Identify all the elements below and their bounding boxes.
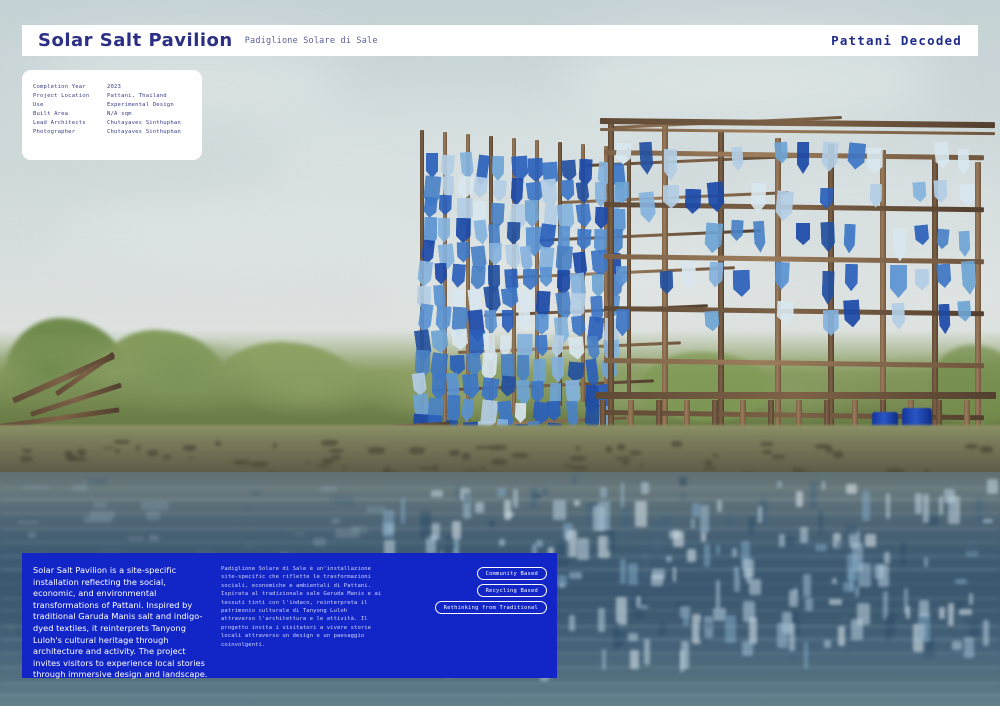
textile-flag [733,269,751,296]
timber-beam [604,306,984,316]
tag-badge[interactable]: Community Based [477,567,547,580]
description-english: Solar Salt Pavilion is a site-specific i… [33,565,211,668]
water-reflection-streak [885,616,892,641]
debris-speck [703,467,717,471]
textile-flag [517,355,530,384]
water-reflection-streak [598,501,610,530]
debris-speck [965,444,978,449]
debris-speck [115,449,121,452]
textile-flag [576,203,593,228]
textile-flag [506,222,520,245]
textile-flag [562,159,578,182]
debris-speck [22,449,31,454]
metadata-row: UseExperimental Design [33,101,192,110]
water-reflection-streak [838,626,845,646]
debris-speck [980,446,994,453]
water-ripple-band [0,486,1000,489]
water-reflection-streak [244,543,256,547]
water-reflection-streak [952,641,963,650]
metadata-rows: Completion Year2023Project LocationPatta… [33,83,192,138]
debris-speck [622,460,629,465]
water-reflection-streak [431,490,443,496]
page-title: Solar Salt Pavilion [38,30,233,51]
timber-beam [600,128,995,135]
debris-speck [409,447,425,454]
water-reflection-streak [679,477,687,485]
textile-flag [957,300,972,322]
timber-beam [604,254,984,264]
water-reflection-streak [803,574,811,597]
debris-speck [462,453,469,460]
water-reflection-streak [141,501,169,510]
metadata-row: PhotographerChutayaves Sinthuphan [33,128,192,137]
textile-flag [684,189,701,214]
textile-flag [914,224,930,245]
textile-flag [821,142,839,173]
debris-speck [114,440,130,443]
textile-flag [456,175,474,200]
water-reflection-streak [542,488,548,496]
textile-flag [938,304,951,335]
textile-flag [959,183,975,205]
debris-speck [183,445,196,451]
textile-flag [485,310,498,335]
textile-flag [461,398,474,422]
debris-speck [250,462,268,467]
water-reflection-streak [244,506,252,511]
textile-flag [449,354,465,375]
metadata-key: Lead Architects [33,119,107,128]
timber-beam [604,202,984,212]
water-reflection-streak [586,502,594,530]
textile-flag [847,142,866,170]
metadata-key: Photographer [33,128,107,137]
textile-flag [514,403,526,423]
textile-flag [426,153,438,178]
water-reflection-streak [673,531,685,547]
textile-flag [731,220,744,242]
water-reflection-streak [749,579,761,595]
water-reflection-streak [431,523,440,540]
textile-flag [551,335,565,359]
water-reflection-streak [18,521,39,524]
debris-speck [189,457,192,459]
metadata-key: Project Location [33,92,107,101]
metadata-key: Built Area [33,110,107,119]
water-reflection-streak [944,489,954,503]
debris-speck [760,442,774,446]
water-ripple-band [0,541,1000,544]
water-reflection-streak [87,478,107,486]
textile-flag [470,265,486,290]
textile-flag [451,263,466,288]
exhibition-label: Pattani Decoded [831,33,962,48]
timber-beam [608,120,614,450]
textile-flag [492,180,507,203]
textile-flag [576,228,591,250]
debris-speck [762,450,772,455]
metadata-row: Lead ArchitectsChutayaves Sinthuphan [33,119,192,128]
textile-flag [591,274,604,298]
water-ripple-band [0,682,1000,685]
water-reflection-streak [282,530,296,534]
debris-speck [833,451,842,458]
timber-beam [604,358,984,368]
water-reflection-streak [128,537,144,540]
timber-beam [604,150,984,160]
textile-flag [462,373,480,400]
textile-flag [516,379,531,406]
debris-speck [629,451,642,456]
textile-flag [936,229,950,250]
water-reflection-streak [924,557,928,567]
water-reflection-streak [815,544,827,552]
textile-flag [681,261,697,290]
debris-speck [480,467,486,470]
water-reflection-streak [93,502,107,508]
debris-speck [77,449,85,456]
textile-flag [492,156,504,181]
water-reflection-streak [983,620,989,646]
debris-speck [20,456,33,463]
textile-flag [472,176,488,199]
water-ripple-band [0,527,1000,530]
textile-flag [434,305,451,333]
metadata-key: Completion Year [33,83,107,92]
metadata-value: 2023 [107,83,192,92]
water-reflection-streak [331,518,340,524]
metadata-value: N/A sqm [107,110,192,119]
water-reflection-streak [728,514,734,528]
description-panel: Solar Salt Pavilion is a site-specific i… [22,553,557,678]
debris-speck [331,455,341,460]
textile-flag [912,181,927,202]
metadata-value: Pattani, Thailand [107,92,192,101]
textile-flag [958,231,970,257]
debris-speck [233,460,250,465]
textile-flag [958,149,970,176]
textile-flag [531,381,545,404]
water-reflection-streak [420,511,431,538]
water-reflection-streak [569,572,582,579]
water-reflection-streak [748,517,755,534]
water-reflection-streak [857,603,870,624]
debris-speck [321,440,338,446]
textile-flag [936,264,952,289]
description-italian: Padiglione Solare di Sale è un'installaz… [221,565,383,668]
water-reflection-streak [717,500,722,513]
debris-speck [147,450,158,456]
water-ripple-band [0,512,1000,515]
debris-speck [576,446,581,450]
textile-flag [540,267,553,287]
textile-flag [731,147,744,172]
textile-flag [893,228,907,262]
metadata-value: Experimental Design [107,101,192,110]
water-ripple-band [0,694,1000,697]
timber-beam [775,138,781,456]
textile-flag [891,303,905,330]
debris-speck [617,444,625,450]
debris-speck [671,441,683,447]
textile-flag [439,195,452,216]
debris-speck [215,441,221,446]
textile-flag [473,219,488,245]
debris-speck [712,454,719,457]
textile-flag [528,157,544,182]
tag-badge[interactable]: Recycling Based [477,584,547,597]
textile-flag [639,141,654,174]
debris-speck [463,469,480,471]
water-reflection-streak [886,493,890,519]
metadata-row: Project LocationPattani, Thailand [33,92,192,101]
water-reflection-streak [246,515,264,518]
water-reflection-streak [497,488,506,497]
water-reflection-streak [620,559,626,584]
textile-flag [797,142,809,174]
water-reflection-streak [948,603,955,626]
metadata-key: Use [33,101,107,110]
water-reflection-streak [982,519,993,524]
water-reflection-streak [716,545,720,555]
debris-speck [570,456,586,461]
water-reflection-streak [250,490,260,497]
textile-flag [843,300,861,329]
metadata-value: Chutayaves Sinthuphan [107,119,192,128]
textile-flag [845,264,858,292]
metadata-row: Built AreaN/A sqm [33,110,192,119]
textile-flag [518,310,532,332]
tag-list: Community BasedRecycling BasedRethinking… [393,565,547,668]
debris-speck [772,455,785,459]
debris-speck [606,446,612,453]
water-reflection-streak [955,612,965,632]
water-reflection-streak [862,491,870,521]
project-metadata-card: Completion Year2023Project LocationPatta… [22,70,202,160]
water-reflection-streak [598,608,604,632]
poster-canvas: Solar Salt Pavilion Padiglione Solare di… [0,0,1000,706]
textile-flag [520,291,532,314]
debris-speck [341,466,349,468]
water-reflection-streak [553,500,565,521]
timber-beam [718,132,724,454]
debris-speck [317,464,329,467]
metadata-value: Chutayaves Sinthuphan [107,128,192,137]
textile-flag [560,180,574,201]
textile-flag [914,269,928,291]
textile-flag [423,197,438,219]
debris-speck [69,455,76,460]
textile-flag [823,310,839,336]
page-subtitle: Padiglione Solare di Sale [245,36,378,46]
water-reflection-streak [824,640,830,648]
water-reflection-streak [855,586,859,597]
debris-speck [449,450,460,456]
debris-speck [491,459,507,466]
water-reflection-streak [335,529,360,538]
debris-speck [512,453,528,458]
tag-badge[interactable]: Rethinking from Traditional [435,601,547,614]
debris-speck [368,447,385,453]
textile-flag [753,221,766,253]
title-bar: Solar Salt Pavilion Padiglione Solare di… [22,25,978,56]
textile-flag [638,191,656,223]
debris-speck [329,449,343,452]
water-reflection-streak [915,493,922,513]
water-ripple-band [0,498,1000,501]
textile-flag [750,183,766,214]
metadata-row: Completion Year2023 [33,83,192,92]
water-reflection-streak [28,532,36,538]
textile-flag [796,223,811,245]
water-reflection-streak [743,601,755,622]
textile-flag [501,287,520,309]
water-reflection-streak [572,475,576,486]
textile-flag [843,223,856,253]
timber-beam [596,392,996,399]
water-reflection-streak [504,500,512,520]
debris-speck [273,443,277,448]
textile-flag [890,265,907,298]
textile-flag [438,218,450,243]
water-reflection-streak [628,563,638,584]
water-reflection-streak [557,541,570,565]
